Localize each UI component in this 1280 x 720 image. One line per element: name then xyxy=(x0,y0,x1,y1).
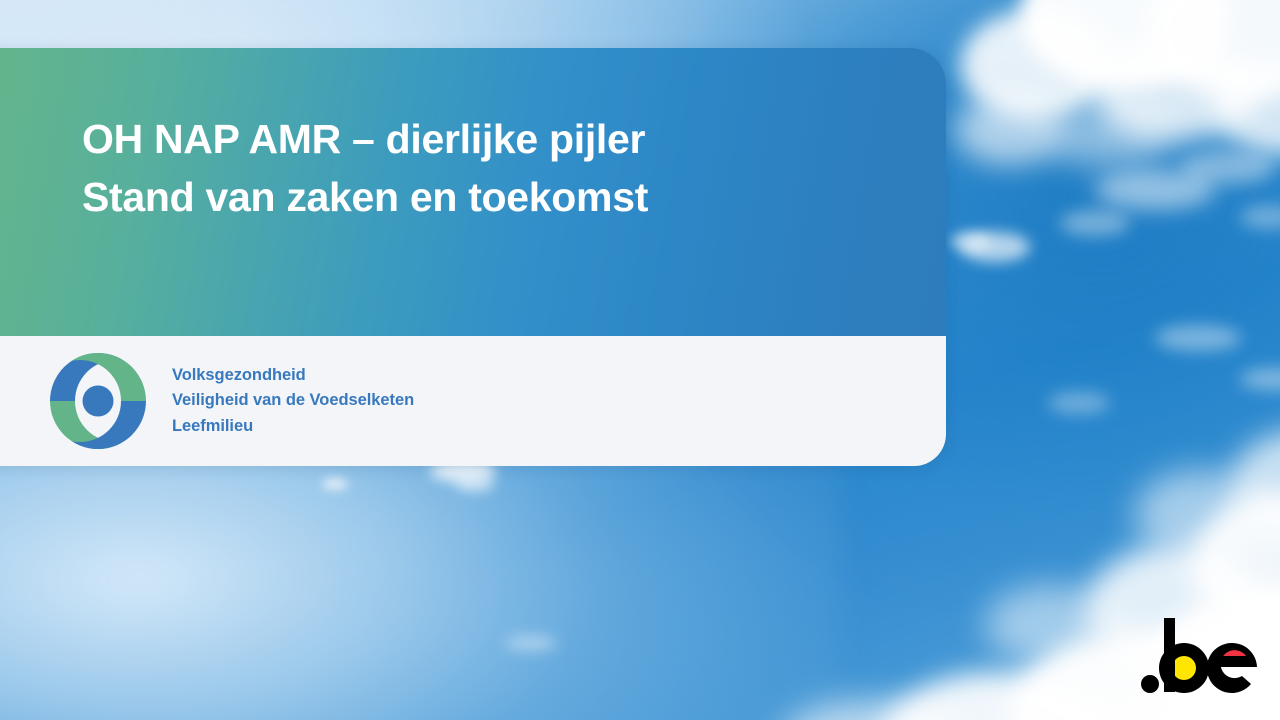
organization-name: Volksgezondheid Veiligheid van de Voedse… xyxy=(172,363,414,438)
title-line-1: OH NAP AMR – dierlijke pijler xyxy=(82,110,892,168)
brand: Volksgezondheid Veiligheid van de Voedse… xyxy=(48,351,414,451)
page-title: OH NAP AMR – dierlijke pijler Stand van … xyxy=(82,110,892,226)
belgium-dot-be-icon xyxy=(1138,610,1258,702)
title-line-2: Stand van zaken en toekomst xyxy=(82,168,892,226)
organization-line-1: Volksgezondheid xyxy=(172,363,414,388)
title-card: OH NAP AMR – dierlijke pijler Stand van … xyxy=(0,48,946,466)
organization-line-3: Leefmilieu xyxy=(172,414,414,439)
organization-line-2: Veiligheid van de Voedselketen xyxy=(172,388,414,413)
presentation-slide: OH NAP AMR – dierlijke pijler Stand van … xyxy=(0,0,1280,720)
fps-health-logo-icon xyxy=(48,351,148,451)
brand-footer: Volksgezondheid Veiligheid van de Voedse… xyxy=(0,336,946,466)
title-banner: OH NAP AMR – dierlijke pijler Stand van … xyxy=(0,48,946,336)
